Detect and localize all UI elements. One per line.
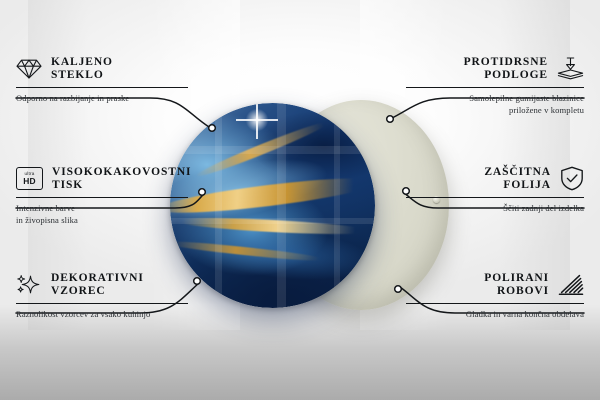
feature-header: KALJENO STEKLO [16,56,188,82]
ultra-hd-icon: ultra HD [16,167,43,190]
feature-subtitle: Samolepilne gumijaste blazinice priložen… [406,93,584,116]
diagonal-lines-icon [558,274,584,296]
shield-check-icon [560,166,584,191]
feature-title-line2: PODLOGE [464,69,548,82]
feature-title-line1: PROTIDRSNE [464,56,548,69]
feature-titles: POLIRANI ROBOVI [484,272,549,298]
feature-header: ultra HD VISOKOKAKOVOSTNI TISK [16,166,188,192]
feature-header: ZAŠČITNA FOLIJA [406,166,584,192]
feature-title-line2: VZOREC [51,285,144,298]
arrow-down-onto-pad-icon [557,57,584,81]
infographic-canvas: KALJENO STEKLO Odporno na razbijanje in … [0,0,600,400]
ultra-hd-badge-bottom: HD [23,177,36,185]
feature-high-quality-print: ultra HD VISOKOKAKOVOSTNI TISK Intenzivn… [16,166,188,226]
feature-divider [16,303,188,305]
front-glass-disc [170,103,375,308]
feature-titles: DEKORATIVNI VZOREC [51,272,144,298]
feature-titles: VISOKOKAKOVOSTNI TISK [52,166,191,192]
feature-title-line2: ROBOVI [484,285,549,298]
feature-titles: ZAŠČITNA FOLIJA [484,166,551,192]
feature-divider [16,87,188,89]
feature-titles: PROTIDRSNE PODLOGE [464,56,548,82]
sparkle-highlight [244,107,270,133]
feature-title-line1: DEKORATIVNI [51,272,144,285]
feature-anti-slip-pads: PROTIDRSNE PODLOGE Samolepilne gumijaste… [406,56,584,116]
feature-divider [406,303,584,305]
feature-polished-edges: POLIRANI ROBOVI Gladka in varna končna o… [406,272,584,321]
feature-header: POLIRANI ROBOVI [406,272,584,298]
feature-title-line2: FOLIJA [484,179,551,192]
feature-title-line1: VISOKOKAKOVOSTNI [52,166,191,179]
feature-title-line1: KALJENO [51,56,113,69]
feature-subtitle: Raznolikost vzorcev za vsako kuhinjo [16,309,188,320]
sparkles-icon [16,274,42,296]
feature-title-line2: TISK [52,179,191,192]
feature-protective-foil: ZAŠČITNA FOLIJA Ščiti zadnji del izdelka [406,166,584,215]
feature-title-line2: STEKLO [51,69,113,82]
feature-divider [16,197,188,199]
feature-titles: KALJENO STEKLO [51,56,113,82]
feature-subtitle: Ščiti zadnji del izdelka [406,203,584,214]
feature-header: DEKORATIVNI VZOREC [16,272,188,298]
feature-divider [406,87,584,89]
feature-title-line1: POLIRANI [484,272,549,285]
feature-title-line1: ZAŠČITNA [484,166,551,179]
feature-subtitle: Odporno na razbijanje in praske [16,93,188,104]
diamond-icon [16,58,42,80]
glass-sheen [170,103,375,308]
feature-header: PROTIDRSNE PODLOGE [406,56,584,82]
feature-tempered-glass: KALJENO STEKLO Odporno na razbijanje in … [16,56,188,105]
feature-subtitle: Gladka in varna končna obdelava [406,309,584,320]
feature-decorative-pattern: DEKORATIVNI VZOREC Raznolikost vzorcev z… [16,272,188,321]
feature-divider [406,197,584,199]
feature-subtitle: Intenzivne barve in živopisna slika [16,203,188,226]
